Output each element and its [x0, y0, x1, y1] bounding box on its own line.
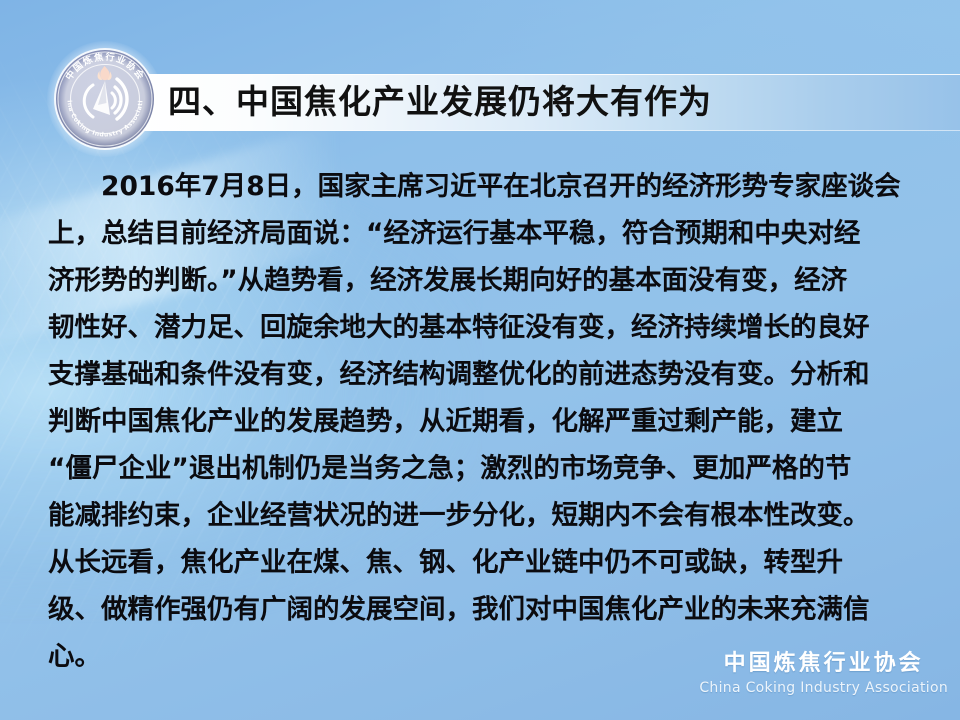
- footer-watermark-cn: 中国炼焦行业协会: [699, 650, 948, 678]
- body-line: “僵尸企业”退出机制仍是当务之急；激烈的市场竞争、更加严格的节: [48, 445, 912, 492]
- body-line: 级、做精作强仍有广阔的发展空间，我们对中国焦化产业的未来充满信: [48, 586, 912, 633]
- association-logo: 中国炼焦行业协会 China Coking Industry Associati…: [53, 47, 157, 151]
- page-title: 四、中国焦化产业发展仍将大有作为: [168, 72, 712, 132]
- body-line: 判断中国焦化产业的发展趋势，从近期看，化解严重过剩产能，建立: [48, 398, 912, 445]
- body-line: 韧性好、潜力足、回旋余地大的基本特征没有变，经济持续增长的良好: [48, 304, 912, 351]
- logo-halo: [47, 41, 163, 157]
- body-line: 济形势的判断。”从趋势看，经济发展长期向好的基本面没有变，经济: [48, 257, 912, 304]
- presentation-slide: 中国炼焦行业协会 China Coking Industry Associati…: [0, 0, 960, 720]
- body-line: 从长远看，焦化产业在煤、焦、钢、化产业链中仍不可或缺，转型升: [48, 539, 912, 586]
- body-line: 上，总结目前经济局面说：“经济运行基本平稳，符合预期和中央对经: [48, 210, 912, 257]
- body-line: 支撑基础和条件没有变，经济结构调整优化的前进态势没有变。分析和: [48, 351, 912, 398]
- slide-body-text: 2016年7月8日，国家主席习近平在北京召开的经济形势专家座谈会 上，总结目前经…: [48, 163, 912, 680]
- body-line: 能减排约束，企业经营状况的进一步分化，短期内不会有根本性改变。: [48, 492, 912, 539]
- footer-watermark: 中国炼焦行业协会 China Coking Industry Associati…: [699, 650, 948, 698]
- body-line: 2016年7月8日，国家主席习近平在北京召开的经济形势专家座谈会: [48, 163, 912, 210]
- footer-watermark-en: China Coking Industry Association: [699, 678, 948, 698]
